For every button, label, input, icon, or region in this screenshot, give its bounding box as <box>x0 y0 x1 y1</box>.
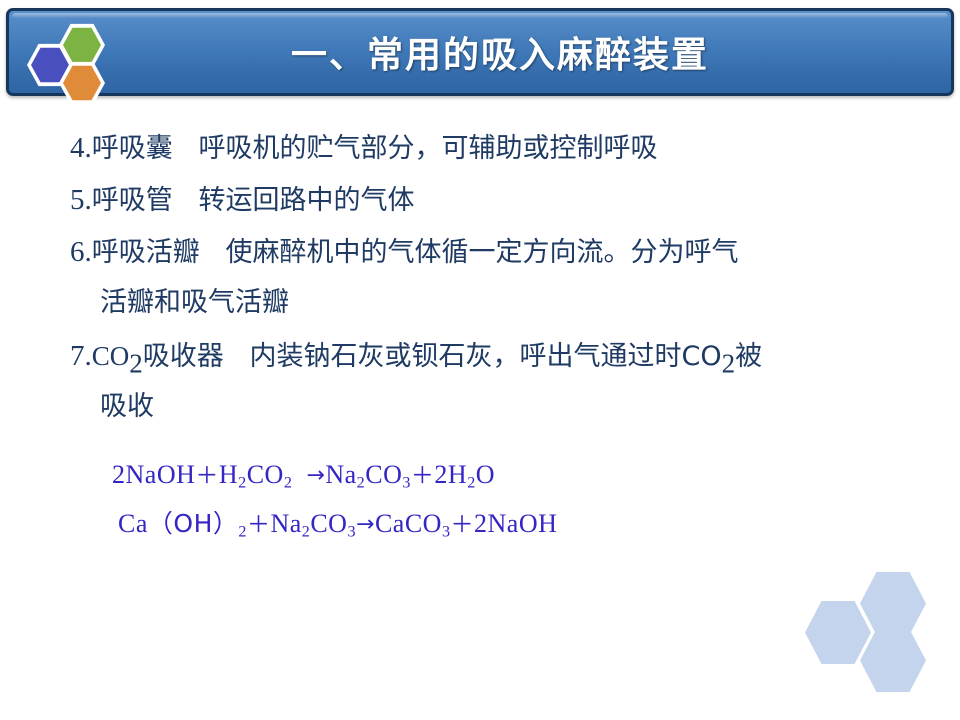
eq1-product-1-sub1: 2 <box>357 475 366 492</box>
eq1-product-1-mid: CO <box>365 460 402 489</box>
eq1-plus-1: ＋ <box>195 463 219 489</box>
decorative-hexagon-bottom-right <box>860 629 926 692</box>
list-item-number: 4. <box>70 132 92 164</box>
eq1-product-2-post: O <box>476 460 495 489</box>
list-item: 5.呼吸管 转运回路中的气体 <box>70 186 415 215</box>
list-item-term: 呼吸管 <box>92 185 173 216</box>
eq1-arrow-icon: → <box>306 463 325 488</box>
list-item-description: 使麻醉机中的气体循一定方向流。分为呼气 <box>226 237 739 268</box>
eq1-reactant-1: 2NaOH <box>112 460 195 489</box>
list-item: 4.呼吸囊 呼吸机的贮气部分，可辅助或控制呼吸 <box>70 134 658 163</box>
list-item-number: 6. <box>70 236 92 268</box>
list-item-term: 呼吸活瓣 <box>92 237 200 268</box>
list-item-gap <box>200 237 226 268</box>
eq2-product-1-pre: CaCO <box>375 509 442 538</box>
list-item-wrap: 活瓣和吸气活瓣 <box>100 288 289 317</box>
decorative-hexagon-left <box>805 601 871 664</box>
list-item-number: 5. <box>70 184 92 216</box>
eq1-product-1-pre: Na <box>325 460 356 489</box>
list-item: 7.CO2吸收器 内装钠石灰或钡石灰，呼出气通过时CO2被 <box>70 342 762 378</box>
list-item-description-sub: 2 <box>722 349 736 379</box>
list-item-number: 7. <box>70 340 92 372</box>
decorative-hexagons <box>805 572 945 692</box>
list-item-gap <box>173 185 199 216</box>
eq1-plus-2: ＋ <box>411 463 435 489</box>
chemical-equation-1: 2NaOH＋H2CO2 →Na2CO3＋2H2O <box>112 456 495 493</box>
list-item-gap <box>173 133 199 164</box>
eq2-plus-1: ＋ <box>247 512 271 538</box>
eq2-reactant-2-pre: Na <box>270 509 301 538</box>
eq1-reactant-2-sub1: 2 <box>238 475 247 492</box>
list-item-description: 转运回路中的气体 <box>199 185 415 216</box>
list-item-gap <box>224 341 250 372</box>
eq2-reactant-1-sub: 2 <box>238 524 247 541</box>
eq2-reactant-1-group: （OH） <box>148 509 238 538</box>
slide-header-bar: 一、常用的吸入麻醉装置 <box>6 8 954 96</box>
eq2-plus-2: ＋ <box>451 512 475 538</box>
eq1-product-1-sub2: 3 <box>402 475 411 492</box>
eq2-reactant-1-pre: Ca <box>118 509 148 538</box>
list-item-description-post: 被 <box>735 341 762 372</box>
eq2-arrow-icon: → <box>356 512 375 537</box>
list-item-term-formula-pre: CO <box>92 341 130 371</box>
chemical-equation-2: Ca（OH）2＋Na2CO3→CaCO3＋2NaOH <box>118 504 557 542</box>
list-item-description-pre: 内装钠石灰或钡石灰，呼出气通过时CO <box>250 341 722 372</box>
list-item-term-suffix: 吸收器 <box>143 341 224 372</box>
eq2-product-2: 2NaOH <box>474 509 557 538</box>
eq2-reactant-2-mid: CO <box>310 509 347 538</box>
list-item-wrap: 吸收 <box>100 392 154 421</box>
eq2-product-1-sub: 3 <box>442 524 451 541</box>
list-item-term: 呼吸囊 <box>92 133 173 164</box>
eq1-product-2-pre: 2H <box>434 460 467 489</box>
eq1-spacer <box>292 460 306 489</box>
eq2-reactant-2-sub2: 3 <box>347 524 356 541</box>
list-item-term-formula-sub: 2 <box>129 349 143 379</box>
list-item: 6.呼吸活瓣 使麻醉机中的气体循一定方向流。分为呼气 <box>70 238 739 267</box>
decorative-hexagon-top-right <box>860 572 926 635</box>
slide-title: 一、常用的吸入麻醉装置 <box>9 26 951 78</box>
list-item-description: 呼吸机的贮气部分，可辅助或控制呼吸 <box>199 133 658 164</box>
eq1-reactant-2-mid: CO <box>247 460 284 489</box>
eq1-reactant-2-pre: H <box>219 460 238 489</box>
eq1-product-2-sub: 2 <box>467 475 476 492</box>
list-item-wrap-text: 活瓣和吸气活瓣 <box>100 287 289 318</box>
list-item-wrap-text: 吸收 <box>100 391 154 422</box>
